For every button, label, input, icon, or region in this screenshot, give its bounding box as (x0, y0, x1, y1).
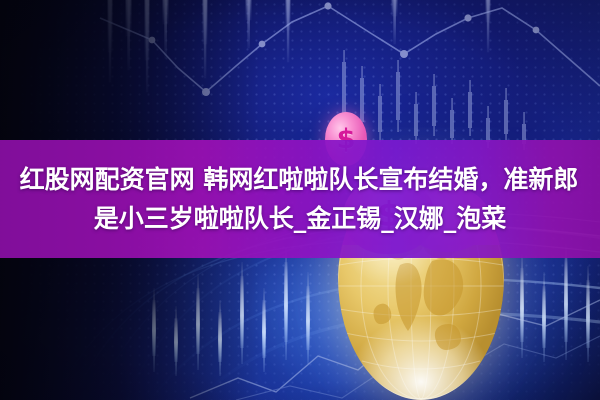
title-line-1: 红股网配资官网 韩网红啦啦队长宣布结婚，准新郎 (20, 160, 581, 199)
title-line-2: 是小三岁啦啦队长_金正锡_汉娜_泡菜 (94, 199, 507, 238)
title-banner-text: 红股网配资官网 韩网红啦啦队长宣布结婚，准新郎 是小三岁啦啦队长_金正锡_汉娜_… (0, 140, 600, 258)
banner-image: $ $ 红股网配资官网 韩网红啦啦队长宣布结婚，准新郎 是小三岁啦啦队长_金正锡… (0, 0, 600, 400)
